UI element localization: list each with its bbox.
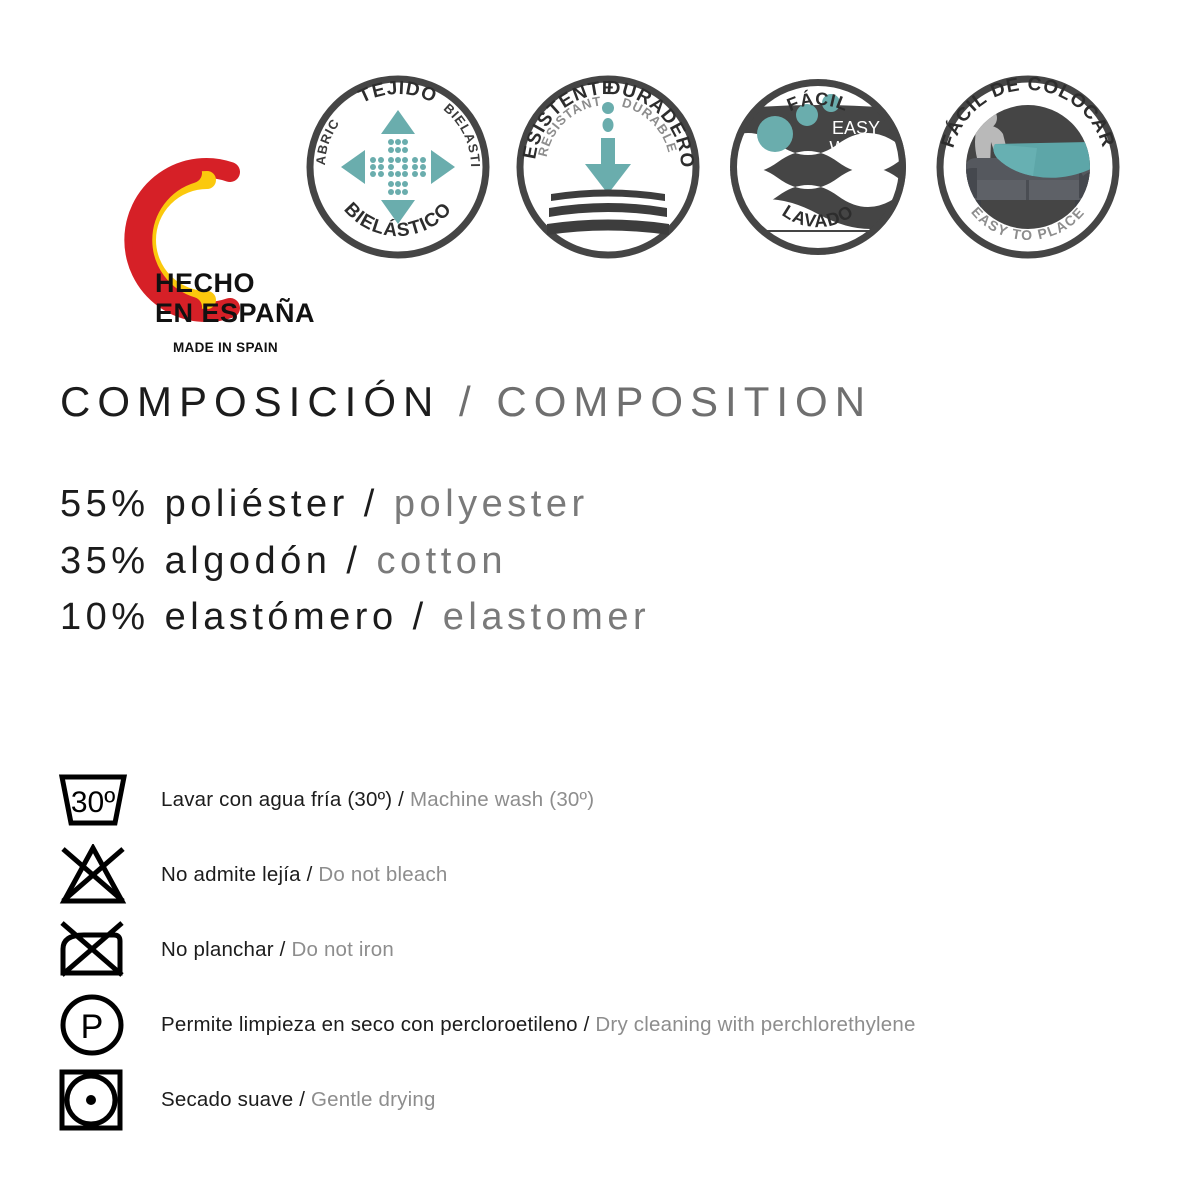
care-text: Secado suave / Gentle drying bbox=[161, 1088, 436, 1112]
care-text-en: Dry cleaning with perchlorethylene bbox=[595, 1013, 915, 1036]
care-text-es: No admite lejía / bbox=[161, 863, 318, 886]
composition-line-en: cotton bbox=[377, 540, 508, 582]
care-row: P Permite limpieza en seco con percloroe… bbox=[58, 987, 1158, 1062]
composition-title-es: COMPOSICIÓN bbox=[60, 378, 440, 425]
composition-line-en: polyester bbox=[394, 483, 589, 525]
badge-facil-de-colocar: FÁCIL DE COLOCAR EASY TO PLACE bbox=[933, 72, 1123, 262]
gentle-drying-icon bbox=[58, 1069, 143, 1131]
care-row: Secado suave / Gentle drying bbox=[58, 1062, 1158, 1137]
badge-row: HECHO EN ESPAÑA MADE IN SPAIN TEJIDO BIE… bbox=[0, 72, 1200, 292]
wash-temp-label: 30º bbox=[71, 786, 115, 819]
badge-tejido-bielastico: TEJIDO BIELÁSTICO FABRIC BIELASTIC bbox=[303, 72, 493, 262]
care-text-es: Lavar con agua fría (30º) / bbox=[161, 788, 410, 811]
care-text: No admite lejía / Do not bleach bbox=[161, 863, 448, 887]
care-text-es: Secado suave / bbox=[161, 1088, 311, 1111]
care-text-es: No planchar / bbox=[161, 938, 291, 961]
dry-clean-p-icon: P bbox=[58, 994, 143, 1056]
badge-resistente-duradero: RESISTENTE DURADERO RESISTANT DURABLE bbox=[513, 72, 703, 262]
composition-title-sep: / bbox=[440, 378, 496, 425]
wash-tub-30-icon: 30º bbox=[58, 771, 143, 829]
care-instructions: 30º Lavar con agua fría (30º) / Machine … bbox=[58, 762, 1158, 1137]
composition-line-es: 35% algodón / bbox=[60, 540, 377, 582]
composition-line: 35% algodón / cotton bbox=[60, 533, 650, 590]
care-text-es: Permite limpieza en seco con percloroeti… bbox=[161, 1013, 595, 1036]
care-text: Lavar con agua fría (30º) / Machine wash… bbox=[161, 788, 594, 812]
care-row: No planchar / Do not iron bbox=[58, 912, 1158, 987]
care-text: No planchar / Do not iron bbox=[161, 938, 394, 962]
composition-list: 55% poliéster / polyester 35% algodón / … bbox=[60, 476, 650, 646]
spain-logo-text: HECHO EN ESPAÑA MADE IN SPAIN bbox=[155, 268, 325, 355]
badge-facil-lavado: FÁCIL LAVADO EASY WASH bbox=[723, 72, 913, 262]
composition-line-es: 10% elastómero / bbox=[60, 596, 443, 638]
care-text-en: Machine wash (30º) bbox=[410, 788, 594, 811]
composition-title: COMPOSICIÓN / COMPOSITION bbox=[60, 378, 872, 426]
badge3-en-line-1: EASY bbox=[832, 118, 880, 138]
care-text-en: Do not iron bbox=[291, 938, 393, 961]
care-row: No admite lejía / Do not bleach bbox=[58, 837, 1158, 912]
do-not-bleach-icon bbox=[58, 844, 143, 906]
do-not-iron-icon bbox=[58, 921, 143, 979]
composition-line: 55% poliéster / polyester bbox=[60, 476, 650, 533]
badge3-en-line-2: WASH bbox=[829, 138, 882, 158]
care-text: Permite limpieza en seco con percloroeti… bbox=[161, 1013, 916, 1037]
spain-line-3: MADE IN SPAIN bbox=[173, 340, 325, 355]
spain-line-2: EN ESPAÑA bbox=[155, 298, 325, 328]
care-text-en: Gentle drying bbox=[311, 1088, 436, 1111]
hecho-en-espana-logo: HECHO EN ESPAÑA MADE IN SPAIN bbox=[55, 140, 290, 340]
dry-clean-letter: P bbox=[81, 1008, 104, 1046]
care-row: 30º Lavar con agua fría (30º) / Machine … bbox=[58, 762, 1158, 837]
composition-title-en: COMPOSITION bbox=[496, 378, 872, 425]
composition-line: 10% elastómero / elastomer bbox=[60, 589, 650, 646]
spain-line-1: HECHO bbox=[155, 268, 325, 298]
composition-line-en: elastomer bbox=[443, 596, 650, 638]
composition-line-es: 55% poliéster / bbox=[60, 483, 394, 525]
label-page: HECHO EN ESPAÑA MADE IN SPAIN TEJIDO BIE… bbox=[0, 0, 1200, 1200]
care-text-en: Do not bleach bbox=[318, 863, 447, 886]
